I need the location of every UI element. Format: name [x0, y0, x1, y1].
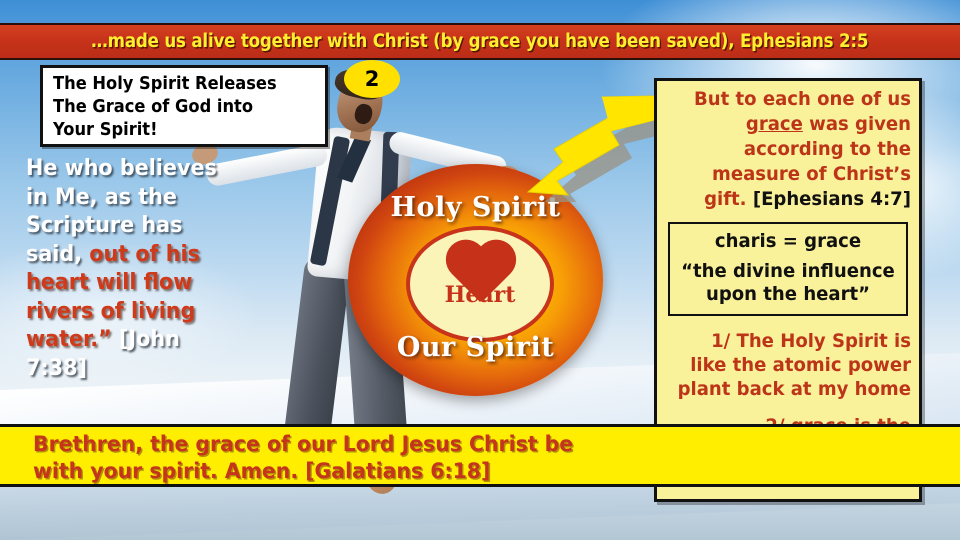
- verse-lead: But to each one of us: [694, 88, 911, 110]
- ellipse-bottom-label: Our Spirit: [348, 332, 603, 363]
- slide-canvas: …made us alive together with Christ (by …: [0, 0, 960, 540]
- bottom-banner: Brethren, the grace of our Lord Jesus Ch…: [0, 424, 960, 487]
- top-banner-text: …made us alive together with Christ (by …: [91, 31, 868, 52]
- bottom-banner-text: Brethren, the grace of our Lord Jesus Ch…: [33, 431, 613, 485]
- ephesians-verse: But to each one of us grace was given ac…: [677, 87, 911, 212]
- slide-number-badge: 2: [344, 60, 400, 98]
- heart-label: Heart: [410, 282, 550, 308]
- title-box-text: The Holy Spirit Releases The Grace of Go…: [53, 73, 299, 142]
- verse-underlined-word: grace: [746, 113, 803, 135]
- verse-reference: [Ephesians 4:7]: [753, 188, 911, 210]
- heart-inner-ellipse: Heart: [406, 226, 554, 342]
- point-one: 1/ The Holy Spirit is like the atomic po…: [677, 329, 911, 401]
- charis-term: charis = grace: [680, 230, 897, 252]
- charis-definition: “the divine influence upon the heart”: [680, 260, 897, 306]
- top-banner: …made us alive together with Christ (by …: [0, 23, 960, 60]
- title-box: The Holy Spirit Releases The Grace of Go…: [40, 65, 328, 147]
- slide-number-text: 2: [365, 67, 380, 91]
- charis-definition-box: charis = grace “the divine influence upo…: [668, 222, 908, 316]
- scripture-quote: He who believes in Me, as the Scripture …: [26, 154, 224, 382]
